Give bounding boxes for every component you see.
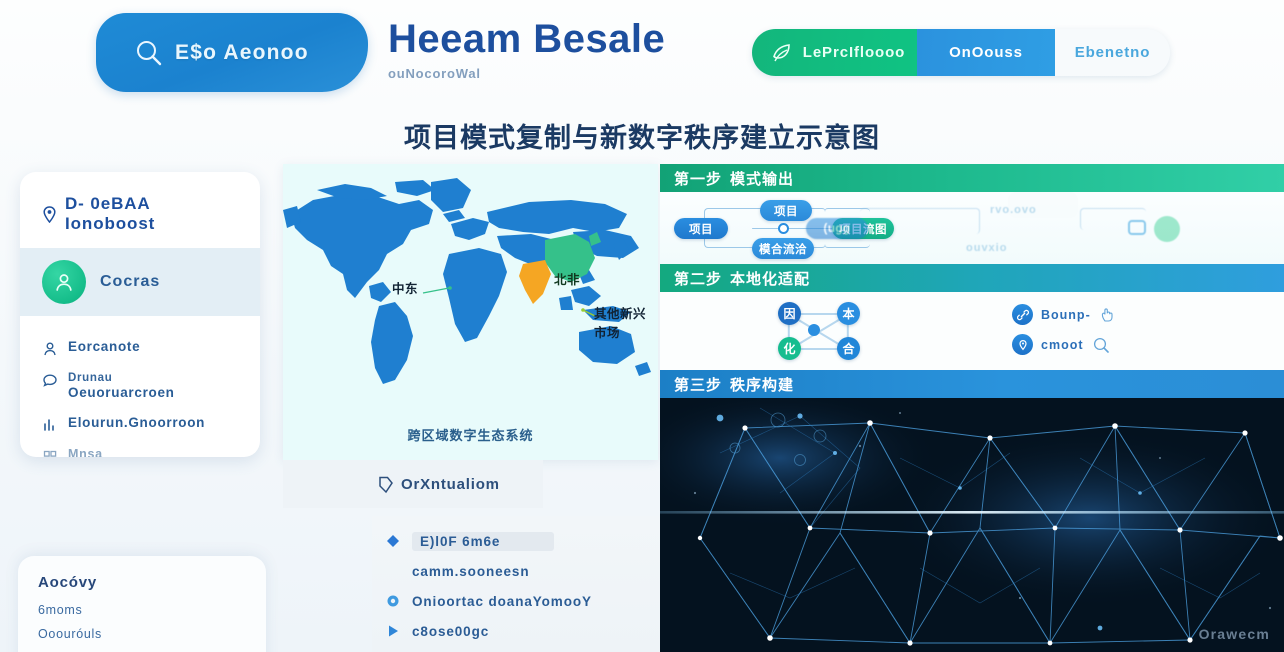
sidebar-item-2[interactable]: Elourun.Gnoorroon [40,408,242,440]
chart-icon [42,417,58,433]
map-caption: 跨区域数字生态系统 [283,425,658,444]
footer-card-title: Aocóvy [38,574,246,591]
quad-center-node [808,324,820,336]
sidebar-user-row[interactable]: Cocras [20,248,260,316]
step-1-name: 模式输出 [730,168,794,189]
step-2-feature-1-label: cmoot [1041,338,1084,352]
step-2-index: 第二步 [674,268,722,289]
network-graph [660,398,1284,652]
slide-canvas: E$o Aeonoo Heeam Besale ouNocoroWal LePr… [0,0,1284,652]
map-label-middle-east: 中东 [392,278,418,297]
list-item-1-label: camm.sooneesn [412,564,530,579]
title-block: Heeam Besale ouNocoroWal [388,18,688,81]
sidebar-item-0-label: Eorcanote [68,339,140,354]
sidebar-item-1[interactable]: Drunau Oeuoruarcroen [40,364,242,408]
circle-icon [386,594,400,608]
segment-2-label: Ebenetno [1075,44,1151,61]
quad-node-tr[interactable]: 本 [837,302,860,325]
location-icon [42,206,57,223]
list-item-0-label: E)l0F 6m6e [412,532,554,551]
sidebar-heading: D- 0eBAA Ionoboost [20,172,260,248]
orientation-label: OrXntualiom [401,476,500,493]
list-item-1[interactable]: camm.sooneesn [386,556,646,586]
step-2-feature-0[interactable]: Bounp- [1012,304,1117,325]
page-title: 项目模式复制与新数字秩序建立示意图 [0,116,1284,155]
app-subtitle: ouNocoroWal [388,66,688,81]
sidebar-list: Eorcanote Drunau Oeuoruarcroen Elourun.G… [20,316,260,457]
list-item-0[interactable]: E)l0F 6m6e [386,526,646,556]
segment-0[interactable]: LePrcIfloooo [752,29,917,76]
search-icon-small [1092,336,1110,354]
step-2-quad-diagram: 因 本 化 合 [778,302,860,360]
sidebar-item-2-label: Elourun.Gnoorroon [68,415,205,430]
grid-icon [42,449,58,457]
person-icon [42,341,58,357]
sidebar-item-1-line1: Drunau [68,371,175,385]
step-2-feature-0-label: Bounp- [1041,308,1091,322]
sidebar-heading-label: D- 0eBAA Ionoboost [65,194,242,234]
list-item-3-label: c8ose00gc [412,624,489,639]
quad-node-bl[interactable]: 化 [778,337,801,360]
ghost-pill: (ugg [806,218,868,239]
app-title: Heeam Besale [388,18,688,60]
step-1-hub [778,223,789,234]
brand-pill-label: E$o Aeonoo [175,41,309,65]
step-1-header: 第一步 模式输出 [660,164,1284,192]
list-item-2[interactable]: Onioortac doanaYomooY [386,586,646,616]
list-item-3[interactable]: c8ose00gc [386,616,646,646]
sidebar-item-3[interactable]: Mnsa [40,440,242,457]
brand-pill[interactable]: E$o Aeonoo [96,13,368,92]
step-1-node-top[interactable]: 项目 [760,200,812,221]
segment-2[interactable]: Ebenetno [1055,29,1170,76]
link-icon [1012,304,1033,325]
sidebar-user-name: Cocras [100,273,160,291]
footer-card-line-1: Ooouróuls [38,627,246,641]
play-icon [386,624,400,638]
step-1-node-bottom[interactable]: 模合流洽 [752,238,814,259]
network-watermark: Orawecm [1199,626,1270,642]
step-2-feature-1[interactable]: cmoot [1012,334,1110,355]
step-3-body: Orawecm [660,398,1284,652]
sidebar-item-1-line2: Oeuoruarcroen [68,385,175,401]
footer-card-line-0: 6moms [38,603,246,617]
segmented-control[interactable]: LePrcIfloooo OnOouss Ebenetno [752,29,1170,76]
orientation-bar[interactable]: OrXntualiom [283,460,543,508]
header: E$o Aeonoo Heeam Besale ouNocoroWal LePr… [0,0,1284,108]
chat-icon [42,373,58,389]
step-3-name: 秩序构建 [730,374,794,395]
step-3-index: 第三步 [674,374,722,395]
pin-icon [1012,334,1033,355]
step-2-header: 第二步 本地化适配 [660,264,1284,292]
ghost-text-top: rvo.ovo [990,204,1037,216]
search-icon [134,38,164,68]
segment-1-label: OnOouss [949,44,1023,61]
ghost-dot-green [1154,216,1180,242]
ghost-text-bottom: ouvxio [966,242,1007,254]
quad-node-br[interactable]: 合 [837,337,860,360]
segment-0-label: LePrcIfloooo [803,44,905,61]
list-item-2-label: Onioortac doanaYomooY [412,594,592,609]
step-1-index: 第一步 [674,168,722,189]
map-label-north-africa: 北非 [554,269,580,288]
step-2-name: 本地化适配 [730,268,810,289]
user-icon [53,271,75,293]
quad-node-tl[interactable]: 因 [778,302,801,325]
diamond-icon [386,534,400,548]
step-2-body: 因 本 化 合 Bounp- cmoot [660,292,1284,370]
sidebar-card: D- 0eBAA Ionoboost Cocras Eorcanote Drun… [20,172,260,457]
leaf-icon [770,41,794,65]
tag-icon [377,475,394,494]
world-map-graphic [283,170,658,415]
sidebar-footer-card: Aocóvy 6moms Ooouróuls [18,556,266,652]
sidebar-item-3-label: Mnsa [68,447,103,457]
step-1-node-left[interactable]: 项目 [674,218,728,239]
steps-panel: 第一步 模式输出 项目 项目 模合流洽 项目流图 (ugg rvo.ovo ou… [660,164,1284,652]
avatar [42,260,86,304]
world-map-card: 中东 北非 其他新兴市场 跨区域数字生态系统 [283,164,658,460]
map-label-other-markets: 其他新兴市场 [594,303,658,341]
hand-icon [1099,306,1117,324]
segment-1[interactable]: OnOouss [917,29,1055,76]
sidebar-item-1-text: Drunau Oeuoruarcroen [68,371,175,401]
sidebar-item-0[interactable]: Eorcanote [40,332,242,364]
step-1-body: 项目 项目 模合流洽 项目流图 (ugg rvo.ovo ouvxio [660,192,1284,264]
list-panel: E)l0F 6m6e camm.sooneesn Onioortac doana… [372,516,660,652]
step-3-header: 第三步 秩序构建 [660,370,1284,398]
